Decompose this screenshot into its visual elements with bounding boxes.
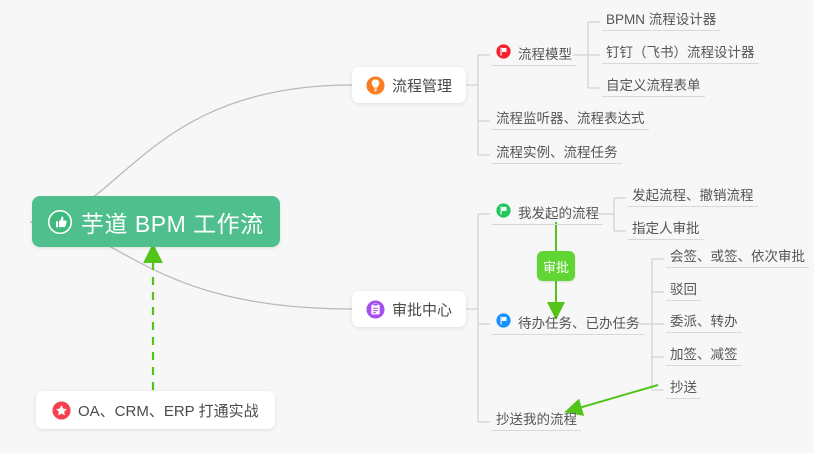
leaf-label: 发起流程、撤销流程 [632, 189, 754, 203]
thumbs-up-icon [48, 210, 72, 234]
star-icon [52, 401, 71, 420]
flag-icon [496, 313, 511, 328]
clipboard-icon [366, 300, 385, 319]
branch-node-process-management[interactable]: 流程管理 [352, 67, 466, 103]
leaf-label: BPMN 流程设计器 [606, 13, 716, 27]
leaf-add-remove-sign[interactable]: 加签、减签 [666, 344, 742, 366]
leaf-bpmn-designer[interactable]: BPMN 流程设计器 [602, 9, 720, 31]
leaf-label: 会签、或签、依次审批 [670, 250, 805, 264]
branch-label-process-management: 流程管理 [392, 75, 452, 96]
bottom-note-node[interactable]: OA、CRM、ERP 打通实战 [36, 391, 275, 429]
leaf-custom-process-form[interactable]: 自定义流程表单 [602, 75, 705, 97]
node-my-initiated-processes[interactable]: 我发起的流程 [492, 201, 603, 225]
leaf-label: 委派、转办 [670, 315, 738, 329]
leaf-label: 抄送 [670, 381, 697, 395]
node-label-my-initiated-processes: 我发起的流程 [518, 207, 599, 221]
leaf-label: 抄送我的流程 [496, 413, 577, 427]
leaf-assigned-approver[interactable]: 指定人审批 [628, 218, 704, 240]
leaf-label: 流程实例、流程任务 [496, 146, 618, 160]
node-label-todo-done-tasks: 待办任务、已办任务 [518, 317, 640, 331]
root-label: 芋道 BPM 工作流 [81, 205, 264, 239]
node-label-process-model: 流程模型 [518, 48, 572, 62]
leaf-label: 指定人审批 [632, 222, 700, 236]
mindmap-canvas: 芋道 BPM 工作流 OA、CRM、ERP 打通实战 流程管理 [0, 0, 814, 453]
leaf-label: 流程监听器、流程表达式 [496, 112, 645, 126]
node-todo-done-tasks[interactable]: 待办任务、已办任务 [492, 311, 644, 335]
branch-label-approval-center: 审批中心 [392, 299, 452, 320]
leaf-process-instance-task[interactable]: 流程实例、流程任务 [492, 142, 622, 164]
leaf-process-listener-expression[interactable]: 流程监听器、流程表达式 [492, 108, 649, 130]
lightbulb-icon [366, 76, 385, 95]
leaf-cc-to-me-processes[interactable]: 抄送我的流程 [492, 409, 581, 431]
flag-icon [496, 203, 511, 218]
branch-node-approval-center[interactable]: 审批中心 [352, 291, 466, 327]
bottom-note-label: OA、CRM、ERP 打通实战 [78, 400, 259, 421]
approval-badge: 审批 [537, 251, 575, 281]
leaf-delegate-transfer[interactable]: 委派、转办 [666, 311, 742, 333]
flag-icon [496, 44, 511, 59]
leaf-label: 驳回 [670, 283, 697, 297]
leaf-label: 自定义流程表单 [606, 79, 701, 93]
root-node[interactable]: 芋道 BPM 工作流 [32, 196, 280, 247]
leaf-countersign-orsign-sequential[interactable]: 会签、或签、依次审批 [666, 246, 809, 268]
node-process-model[interactable]: 流程模型 [492, 42, 576, 66]
leaf-label: 加签、减签 [670, 348, 738, 362]
leaf-cc[interactable]: 抄送 [666, 377, 701, 399]
leaf-dingtalk-feishu-designer[interactable]: 钉钉（飞书）流程设计器 [602, 42, 759, 64]
leaf-label: 钉钉（飞书）流程设计器 [606, 46, 755, 60]
leaf-reject[interactable]: 驳回 [666, 279, 701, 301]
leaf-start-cancel-process[interactable]: 发起流程、撤销流程 [628, 185, 758, 207]
approval-badge-label: 审批 [543, 257, 569, 276]
